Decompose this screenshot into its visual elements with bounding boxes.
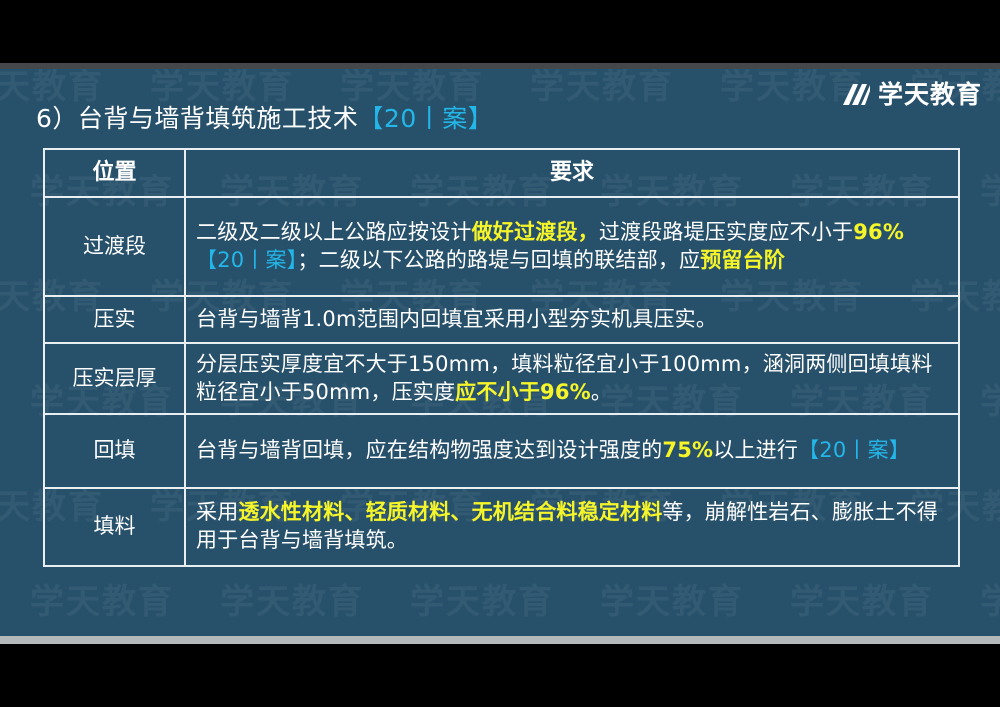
table-row: 压实台背与墙背1.0m范围内回填宜采用小型夯实机具压实。: [44, 296, 959, 343]
watermark-text: 学天教育: [220, 574, 364, 623]
requirement-segment: 台背与墙背1.0m范围内回填宜采用小型夯实机具压实。: [196, 307, 717, 331]
watermark-text: 学天教育: [980, 574, 1000, 623]
requirement-segment: 过渡段路堤压实度应不小于: [599, 220, 853, 244]
table-row: 回填台背与墙背回填，应在结构物强度达到设计强度的75%以上进行【20丨案】: [44, 414, 959, 488]
watermark-text: 学天教育: [30, 574, 174, 623]
cell-position: 回填: [44, 414, 185, 488]
requirements-table: 位置 要求 过渡段二级及二级以上公路应按设计做好过渡段，过渡段路堤压实度应不小于…: [43, 148, 960, 567]
table-row: 填料采用透水性材料、轻质材料、无机结合料稳定材料等，崩解性岩石、膨胀土不得用于台…: [44, 488, 959, 566]
page-title-text: 6）台背与墙背填筑施工技术: [36, 104, 358, 133]
watermark-text: 学天教育: [530, 69, 674, 108]
watermark-text: 学天教育: [980, 374, 1000, 423]
requirement-segment: 以上进行: [713, 438, 798, 462]
column-header-requirement: 要求: [185, 149, 959, 197]
watermark-text: 学天教育: [790, 574, 934, 623]
table-body: 过渡段二级及二级以上公路应按设计做好过渡段，过渡段路堤压实度应不小于96% 【2…: [44, 197, 959, 566]
requirement-segment: 台背与墙背回填，应在结构物强度达到设计强度的: [196, 438, 662, 462]
slide-canvas: 学天教育学天教育学天教育学天教育学天教育学天教育学天教育学天教育学天教育学天教育…: [0, 69, 1000, 636]
cell-position: 填料: [44, 488, 185, 566]
requirement-segment: 采用: [196, 500, 238, 524]
requirement-segment: 二级及二级以上公路应按设计: [196, 220, 472, 244]
watermark-text: 学天教育: [410, 574, 554, 623]
table-row: 压实层厚分层压实厚度宜不大于150mm，填料粒径宜小于100mm，涵洞两侧回填填…: [44, 343, 959, 414]
requirement-segment-highlight: 96%: [853, 220, 904, 244]
page-title-tag: 【20丨案】: [358, 104, 493, 133]
watermark-text: 学天教育: [980, 164, 1000, 213]
cell-position: 压实: [44, 296, 185, 343]
table-row: 过渡段二级及二级以上公路应按设计做好过渡段，过渡段路堤压实度应不小于96% 【2…: [44, 197, 959, 296]
requirement-segment-highlight: 应不小于96%: [455, 380, 591, 404]
table-header-row: 位置 要求: [44, 149, 959, 197]
requirement-segment-highlight: 透水性材料、轻质材料、无机结合料稳定材料: [238, 500, 662, 524]
brand-logo: 学天教育: [841, 82, 982, 107]
requirement-segment-highlight: 75%: [662, 438, 713, 462]
cell-requirement: 采用透水性材料、轻质材料、无机结合料稳定材料等，崩解性岩石、膨胀土不得用于台背与…: [185, 488, 959, 566]
brand-logo-text: 学天教育: [878, 82, 982, 107]
cell-position: 过渡段: [44, 197, 185, 296]
requirement-segment-highlight: 【20丨案】: [798, 438, 910, 462]
cell-requirement: 分层压实厚度宜不大于150mm，填料粒径宜小于100mm，涵洞两侧回填填料粒径宜…: [185, 343, 959, 414]
requirement-segment-highlight: 预留台阶: [700, 248, 785, 272]
letterbox-bottom-divider: [0, 636, 1000, 644]
requirement-segment-highlight: 【20丨案】: [196, 248, 297, 272]
requirement-segment: 。: [591, 380, 612, 404]
watermark-text: 学天教育: [600, 574, 744, 623]
cell-position: 压实层厚: [44, 343, 185, 414]
page-title: 6）台背与墙背填筑施工技术【20丨案】: [36, 99, 493, 135]
highway-road-icon: [841, 83, 871, 106]
cell-requirement: 台背与墙背回填，应在结构物强度达到设计强度的75%以上进行【20丨案】: [185, 414, 959, 488]
requirement-segment-highlight: 做好过渡段，: [472, 220, 599, 244]
column-header-position: 位置: [44, 149, 185, 197]
cell-requirement: 二级及二级以上公路应按设计做好过渡段，过渡段路堤压实度应不小于96% 【20丨案…: [185, 197, 959, 296]
cell-requirement: 台背与墙背1.0m范围内回填宜采用小型夯实机具压实。: [185, 296, 959, 343]
requirement-segment: ；二级以下公路的路堤与回填的联结部，应: [297, 248, 700, 272]
video-player-screen: 学天教育学天教育学天教育学天教育学天教育学天教育学天教育学天教育学天教育学天教育…: [0, 0, 1000, 707]
